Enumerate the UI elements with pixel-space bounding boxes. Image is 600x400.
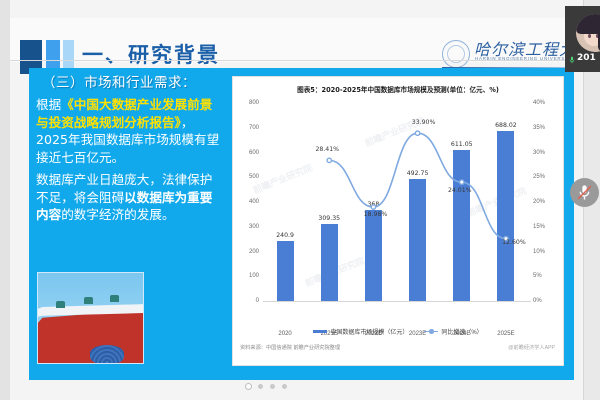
content-heading: （三）市场和行业需求： [42, 74, 222, 93]
text-column: （三）市场和行业需求： 根据《中国大数据产业发展前景与投资战略规划分析报告》，2… [36, 74, 222, 224]
pagination-dot[interactable] [282, 384, 287, 389]
y-axis-tick-left: 500 [249, 174, 259, 180]
avatar-hair [576, 14, 600, 34]
y-axis-tick-left: 800 [249, 100, 259, 106]
y-axis-tick-left: 300 [249, 224, 259, 230]
y-axis-tick-left: 700 [249, 125, 259, 131]
roof-eave-detail [90, 345, 124, 364]
legend-bar-label: 中国数据库市场规模（亿元） [330, 327, 408, 336]
paragraph-2-suffix: 的数字经济的发展。 [61, 207, 174, 222]
chart-line-label: 18.98% [364, 211, 388, 218]
mute-microphone-button[interactable] [570, 178, 599, 207]
microphone-icon [568, 53, 576, 65]
pagination-dot[interactable] [246, 384, 251, 389]
chart-line-series [263, 103, 528, 301]
roof-finial-3 [110, 295, 119, 302]
roof-finial-2 [84, 297, 93, 304]
university-seal-icon [442, 40, 470, 68]
y-axis-tick-right: 0% [533, 298, 542, 304]
pagination-dots[interactable] [246, 384, 287, 389]
y-axis-tick-right: 10% [533, 249, 545, 255]
avatar-eye-left [588, 34, 591, 38]
paragraph-1: 根据《中国大数据产业发展前景与投资战略规划分析报告》，2025年我国数据库市场规… [36, 96, 222, 166]
y-axis-tick-right: 25% [533, 174, 545, 180]
chart-x-axis [263, 301, 531, 302]
y-axis-tick-right: 5% [533, 273, 542, 279]
header-divider [10, 60, 583, 61]
y-axis-tick-right: 35% [533, 125, 545, 131]
y-axis-tick-right: 15% [533, 224, 545, 230]
legend-item-bars: 中国数据库市场规模（亿元） [313, 327, 408, 336]
y-axis-tick-left: 0 [256, 298, 259, 304]
chart-source: 资料来源：中国信通院 前瞻产业研究院整理 [240, 344, 340, 351]
roof-finial-1 [56, 301, 65, 308]
y-axis-tick-right: 30% [533, 150, 545, 156]
paragraph-2: 数据库产业日趋庞大，法律保护不足，将会阻碍以数据库为重要内容的数字经济的发展。 [36, 171, 222, 224]
presentation-app: 一、研究背景 哈尔滨工程大学 HARBIN ENGINEERING UNIVER… [0, 0, 600, 400]
microphone-muted-icon [576, 184, 593, 201]
slide-canvas: 一、研究背景 哈尔滨工程大学 HARBIN ENGINEERING UNIVER… [10, 0, 583, 400]
avatar [576, 14, 600, 52]
y-axis-tick-left: 200 [249, 249, 259, 255]
chart-credit: @前瞻经济学人APP [508, 344, 555, 351]
page-title: 一、研究背景 [82, 39, 220, 69]
legend-bar-swatch [313, 330, 327, 334]
chart-legend: 中国数据库市场规模（亿元） 同比增速（%） [233, 327, 563, 336]
y-axis-tick-right: 20% [533, 199, 545, 205]
chart-line-label: 28.41% [315, 146, 339, 153]
participant-video-tile[interactable]: 201 [565, 6, 600, 72]
participant-label: 201 [577, 53, 596, 63]
chart-line-label: 12.60% [502, 239, 526, 246]
paragraph-1-prefix: 根据 [36, 97, 61, 112]
y-axis-tick-left: 400 [249, 199, 259, 205]
legend-line-label: 同比增速（%） [441, 327, 482, 336]
legend-item-line: 同比增速（%） [424, 327, 482, 336]
chart-title: 图表5：2020-2025年中国数据库市场规模及预测(单位：亿元、%) [233, 84, 563, 94]
pagination-dot[interactable] [270, 384, 275, 389]
chart-line-label: 24.01% [448, 187, 472, 194]
architecture-photo [37, 272, 144, 364]
y-axis-tick-left: 100 [249, 273, 259, 279]
chart-plot-area: 01002003004005006007008000%5%10%15%20%25… [263, 103, 528, 301]
chart-card: 图表5：2020-2025年中国数据库市场规模及预测(单位：亿元、%) 前瞻产业… [232, 76, 564, 366]
slide-header: 一、研究背景 哈尔滨工程大学 HARBIN ENGINEERING UNIVER… [10, 18, 583, 62]
chart-line-label: 33.90% [412, 119, 436, 126]
legend-line-swatch [424, 331, 438, 333]
y-axis-tick-right: 40% [533, 100, 545, 106]
y-axis-tick-left: 600 [249, 150, 259, 156]
pagination-dot[interactable] [258, 384, 263, 389]
